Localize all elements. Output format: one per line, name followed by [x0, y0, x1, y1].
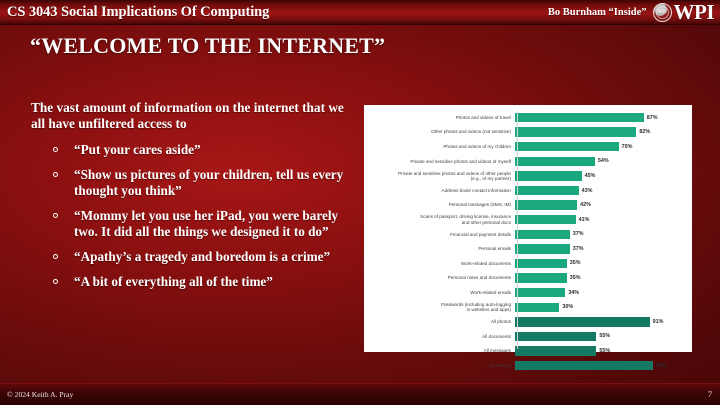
copyright-text: © 2024 Keith A. Pray	[7, 390, 73, 399]
chart-bar-wrap: 54%	[515, 155, 692, 168]
chart-value-label: 37%	[573, 231, 584, 237]
chart-category-label: Photos and videos of travel	[364, 115, 515, 120]
wpi-wordmark: WPI	[674, 2, 715, 23]
chart-category-label: Work-related emails	[364, 290, 515, 295]
chart-value-label: 87%	[647, 115, 658, 121]
chart-bar-wrap: 45%	[515, 169, 692, 182]
chart-category-label: Work-related documents	[364, 261, 515, 266]
bullet-text: “Put your cares aside”	[74, 142, 201, 157]
bullet-item: “Apathy’s a tragedy and boredom is a cri…	[31, 249, 351, 265]
chart-category-label: Photos and videos of my children	[364, 144, 515, 149]
chart-value-label: 35%	[570, 260, 581, 266]
wpi-logo: WPI WPI	[653, 2, 715, 23]
chart-bar	[515, 215, 576, 224]
chart-bar-wrap: 35%	[515, 257, 692, 270]
chart-value-label: 45%	[585, 173, 596, 179]
chart-category-label: Private and sensitive photos and videos …	[364, 159, 515, 164]
chart-bar-wrap: 55%	[515, 345, 692, 358]
chart-value-label: 70%	[622, 144, 633, 150]
bullet-text: “Show us pictures of your children, tell…	[74, 167, 343, 198]
chart-category-label: All messages	[364, 348, 515, 353]
chart-bar-wrap: 37%	[515, 228, 692, 241]
chart-bar-wrap: 35%	[515, 272, 692, 285]
lead-paragraph: The vast amount of information on the in…	[31, 100, 351, 133]
chart-value-label: 34%	[568, 290, 579, 296]
chart-bar-row: Any sharing93%	[364, 359, 692, 372]
chart-bar	[515, 127, 636, 136]
chart-bar	[515, 361, 653, 370]
bullet-circle-icon	[53, 213, 58, 218]
chart-category-label: Address book/ contact information	[364, 188, 515, 193]
chart-bar	[515, 273, 567, 282]
page-title: “WELCOME TO THE INTERNET”	[30, 33, 385, 59]
chart-bar-wrap: 41%	[515, 213, 692, 226]
chart-value-label: 54%	[598, 158, 609, 164]
page-number: 7	[708, 390, 712, 399]
chart-bar-row: All documents55%	[364, 330, 692, 343]
chart-bar	[515, 303, 559, 312]
chart-bar-wrap: 42%	[515, 199, 692, 212]
bullet-item: “A bit of everything all of the time”	[31, 274, 351, 290]
chart-bar	[515, 230, 570, 239]
slide-header: CS 3043 Social Implications Of Computing…	[0, 0, 720, 25]
chart-bar	[515, 317, 650, 326]
header-right-group: Bo Burnham “Inside” WPI WPI	[548, 2, 714, 23]
chart-bar	[515, 157, 595, 166]
wpi-seal-text: WPI	[657, 10, 666, 15]
slide-footer: © 2024 Keith A. Pray 7	[0, 383, 720, 405]
chart-bar-row: Passwords (including auto-logging in web…	[364, 301, 692, 314]
bullet-circle-icon	[53, 172, 58, 177]
chart-bar-row: All messages55%	[364, 345, 692, 358]
chart-bar-wrap: 82%	[515, 126, 692, 139]
chart-value-label: 37%	[573, 246, 584, 252]
chart-value-label: 93%	[656, 363, 667, 369]
chart-category-label: Scans of passport, driving license, insu…	[364, 214, 515, 225]
lecture-subject: Bo Burnham “Inside”	[548, 7, 647, 18]
chart-bar-wrap: 87%	[515, 111, 692, 124]
chart-value-label: 35%	[570, 275, 581, 281]
chart-bar	[515, 142, 619, 151]
chart-bar-wrap: 37%	[515, 242, 692, 255]
wpi-seal-icon: WPI	[653, 3, 672, 22]
chart-category-label: Private and sensitive photos and videos …	[364, 171, 515, 182]
chart-bar-row: Photos and videos of my children70%	[364, 140, 692, 153]
chart-bar-row: All photos91%	[364, 315, 692, 328]
chart-bar	[515, 186, 579, 195]
bullet-circle-icon	[53, 279, 58, 284]
chart-category-label: All photos	[364, 319, 515, 324]
bullet-item: “Show us pictures of your children, tell…	[31, 167, 351, 199]
bullet-text: “Apathy’s a tragedy and boredom is a cri…	[74, 249, 330, 264]
chart-bar	[515, 244, 570, 253]
chart-bar-row: Scans of passport, driving license, insu…	[364, 213, 692, 226]
chart-value-label: 91%	[653, 319, 664, 325]
chart-value-label: 55%	[599, 333, 610, 339]
chart-category-label: Other photos and videos (not sensitive)	[364, 129, 515, 134]
chart-bar	[515, 346, 596, 355]
chart-bar	[515, 200, 577, 209]
chart-value-label: 55%	[599, 348, 610, 354]
chart-category-label: Financial and payment details	[364, 232, 515, 237]
bullet-item: “Put your cares aside”	[31, 142, 351, 158]
chart-bar-row: Personal emails37%	[364, 242, 692, 255]
chart-bar-row: Photos and videos of travel87%	[364, 111, 692, 124]
chart-bar	[515, 288, 565, 297]
chart-bar	[515, 259, 567, 268]
chart-panel: Photos and videos of travel87%Other phot…	[364, 105, 692, 352]
chart-category-label: Any sharing	[364, 363, 515, 368]
chart-value-label: 30%	[562, 304, 573, 310]
slide-canvas: CS 3043 Social Implications Of Computing…	[0, 0, 720, 405]
chart-bar-row: Work-related documents35%	[364, 257, 692, 270]
content-column: The vast amount of information on the in…	[31, 100, 351, 299]
chart-category-label: Passwords (including auto-logging in web…	[364, 302, 515, 313]
chart-axis-line	[517, 111, 518, 349]
chart-bar-row: Address book/ contact information43%	[364, 184, 692, 197]
chart-bar-row: Private and sensitive photos and videos …	[364, 169, 692, 182]
bullet-text: “Mommy let you use her iPad, you were ba…	[74, 208, 338, 239]
chart-value-label: 82%	[639, 129, 650, 135]
chart-bar-row: Personal notes and documents35%	[364, 272, 692, 285]
chart-rows: Photos and videos of travel87%Other phot…	[364, 111, 692, 372]
bullet-circle-icon	[53, 254, 58, 259]
chart-bar-wrap: 43%	[515, 184, 692, 197]
chart-bar	[515, 113, 644, 122]
bullet-text: “A bit of everything all of the time”	[74, 274, 273, 289]
course-title: CS 3043 Social Implications Of Computing	[7, 4, 269, 21]
bullet-circle-icon	[53, 147, 58, 152]
chart-bar	[515, 332, 596, 341]
chart-category-label: All documents	[364, 334, 515, 339]
chart-value-label: 43%	[582, 188, 593, 194]
chart-bar-row: Personal messages (SMS, IM)42%	[364, 199, 692, 212]
chart-value-label: 41%	[579, 217, 590, 223]
chart-category-label: Personal notes and documents	[364, 275, 515, 280]
chart-bar-wrap: 55%	[515, 330, 692, 343]
chart-bar-row: Financial and payment details37%	[364, 228, 692, 241]
chart-bar-wrap: 91%	[515, 315, 692, 328]
chart-value-label: 42%	[580, 202, 591, 208]
chart-bar-row: Work-related emails34%	[364, 286, 692, 299]
chart-category-label: Personal emails	[364, 246, 515, 251]
chart-bar-wrap: 70%	[515, 140, 692, 153]
chart-bar-wrap: 93%	[515, 359, 692, 372]
chart-bar-wrap: 30%	[515, 301, 692, 314]
chart-inner: Photos and videos of travel87%Other phot…	[364, 105, 692, 352]
chart-bar-row: Private and sensitive photos and videos …	[364, 155, 692, 168]
chart-bar-wrap: 34%	[515, 286, 692, 299]
bullet-item: “Mommy let you use her iPad, you were ba…	[31, 208, 351, 240]
chart-category-label: Personal messages (SMS, IM)	[364, 202, 515, 207]
chart-bar-row: Other photos and videos (not sensitive)8…	[364, 126, 692, 139]
chart-bar	[515, 171, 582, 180]
bullet-list: “Put your cares aside”“Show us pictures …	[31, 142, 351, 290]
